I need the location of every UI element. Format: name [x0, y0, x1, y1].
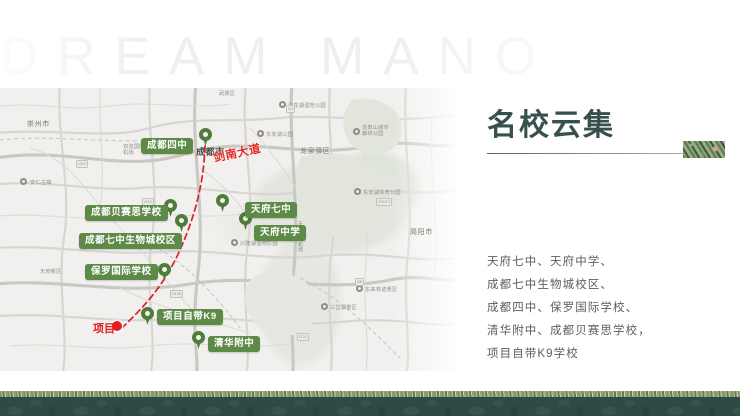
pin-hole [203, 132, 208, 137]
map-label-chengdu-no4[interactable]: 成都四中 [141, 138, 193, 154]
map-place-label: 三岔湖景区 [330, 304, 357, 311]
map-pin-no7-bio-campus[interactable] [175, 214, 188, 232]
map-poi-icon [257, 130, 264, 137]
map-label-project: 项目 [93, 320, 115, 336]
pin-hole [162, 267, 167, 272]
map-label-basis-school[interactable]: 成都贝赛思学校 [85, 205, 168, 221]
map-poi-icon [20, 178, 27, 185]
map-poi-icon [279, 101, 286, 108]
map-pin-project-k9[interactable] [141, 307, 154, 325]
body-text-line: 清华附中、成都贝赛思学校， [487, 322, 651, 338]
map-place-label: 武侯区 [219, 90, 235, 97]
slide-canvas: DREAM MANOR [0, 0, 740, 416]
map-pin-tianfu-no7[interactable] [216, 194, 229, 212]
location-map[interactable]: 崇州市 安仁古镇 武侯区 青龙湖湿地公园 东安湖公园 龙泉驿区 龙泉山城市森林公… [0, 88, 456, 371]
pin-hole [168, 203, 173, 208]
map-poi-icon [356, 285, 363, 292]
map-place-label: 东来林迹景区 [365, 286, 397, 293]
pin-tail [168, 207, 174, 217]
map-label-no7-bio-campus[interactable]: 成都七中生物城校区 [79, 233, 182, 249]
road-shield: G93 [76, 160, 88, 168]
pin-tail [196, 339, 202, 349]
map-label-paul-international[interactable]: 保罗国际学校 [85, 264, 158, 280]
map-pin-tsinghua-affiliated[interactable] [192, 331, 205, 349]
map-place-label: 龙泉山城市森林公园 [362, 125, 392, 137]
foliage-decoration-icon [683, 141, 725, 158]
map-poi-icon [354, 188, 361, 195]
footer-band [0, 397, 740, 416]
pin-tail [220, 202, 226, 212]
road-shield: S8 [355, 278, 364, 286]
map-label-project-k9[interactable]: 项目自带K9 [157, 309, 223, 325]
pin-hole [179, 218, 184, 223]
map-place-label: 东安湖体育公园 [363, 189, 401, 196]
pin-tail [145, 315, 151, 325]
map-poi-icon [231, 239, 238, 246]
map-place-label: 崇州市 [27, 119, 50, 129]
page-title: 名校云集 [487, 100, 615, 144]
body-text-line: 成都七中生物城校区、 [487, 276, 613, 292]
map-label-tianfu-middle[interactable]: 天府中学 [254, 225, 306, 241]
map-pin-paul-international[interactable] [158, 263, 171, 281]
map-label-tianfu-no7[interactable]: 天府七中 [245, 202, 297, 218]
map-place-label: 天府新区 [40, 268, 62, 275]
footer-pattern [0, 397, 740, 416]
map-place-label: 兴隆湖湿地公园 [240, 240, 278, 247]
road-shield: G5013 [376, 198, 392, 206]
map-poi-icon [321, 303, 328, 310]
pin-tail [179, 222, 185, 232]
pin-hole [145, 311, 150, 316]
map-poi-icon [353, 128, 360, 135]
map-place-label: 简阳市 [410, 227, 433, 237]
map-place-label: 安仁古镇 [30, 179, 52, 186]
pin-hole [196, 335, 201, 340]
road-shield: G76 [297, 333, 309, 341]
map-pin-chengdu[interactable] [199, 128, 212, 146]
hero-watermark-title: DREAM MANOR [0, 26, 560, 88]
body-text-line: 天府七中、天府中学、 [487, 253, 613, 269]
title-divider [487, 153, 683, 154]
pin-tail [243, 220, 249, 230]
pin-tail [162, 271, 168, 281]
road-shield: G4 [286, 105, 295, 113]
map-label-tsinghua-affiliated[interactable]: 清华附中 [208, 336, 260, 352]
body-text-line: 项目自带K9学校 [487, 345, 579, 361]
pin-hole [220, 198, 225, 203]
body-text-line: 成都四中、保罗国际学校、 [487, 299, 638, 315]
road-shield: S106 [170, 290, 183, 298]
map-place-label: 东安湖公园 [266, 131, 293, 138]
map-place-label: 龙泉驿区 [300, 146, 330, 156]
